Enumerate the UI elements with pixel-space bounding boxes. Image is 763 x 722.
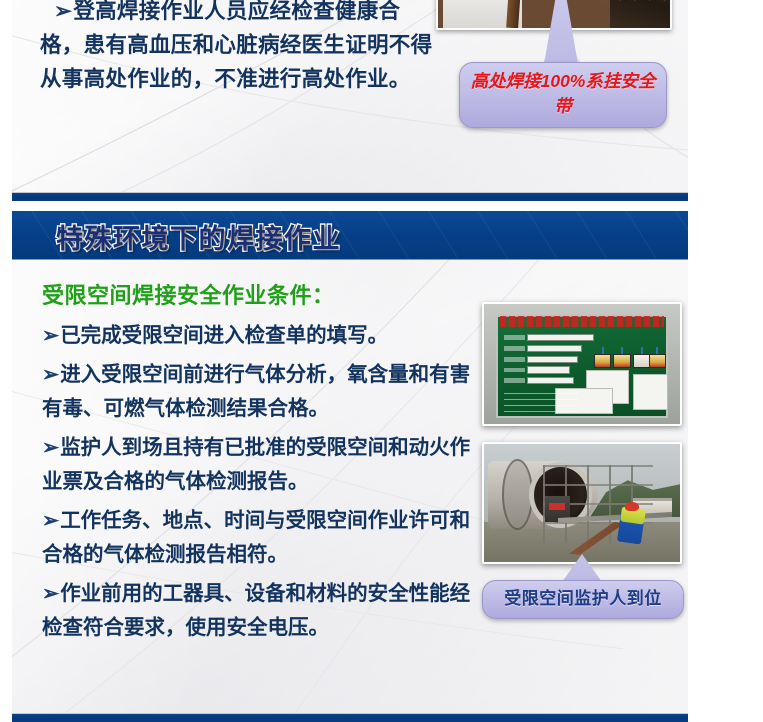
callout-bubble-text: 高处焊接100%系挂安全带 [459, 62, 667, 128]
confined-space-permit-board-photo [482, 302, 682, 426]
bullet-arrow-icon: ➢ [54, 0, 72, 23]
slide2-footer-bar [12, 713, 688, 722]
bullet-arrow-icon: ➢ [42, 363, 59, 386]
bullet-item: ➢已完成受限空间进入检查单的填写。 [42, 319, 482, 354]
bullet-item-text: 作业前用的工器具、设备和材料的安全性能经检查符合要求，使用安全电压。 [42, 582, 470, 640]
bullet-item-text: 进入受限空间前进行气体分析，氧含量和有害有毒、可燃气体检测结果合格。 [42, 363, 470, 421]
bullet-arrow-icon: ➢ [42, 436, 59, 459]
slide-deck-page: ➢登高焊接作业人员应经检查健康合格，患有高血压和心脏病经医生证明不得从事高处作业… [0, 0, 763, 722]
bullet-item: ➢监护人到场且持有已批准的受限空间和动火作业票及合格的气体检测报告。 [42, 431, 482, 500]
bullet-arrow-icon: ➢ [42, 509, 59, 532]
slide1-body-paragraph: 登高焊接作业人员应经检查健康合格，患有高血压和心脏病经医生证明不得从事高处作业的… [40, 0, 432, 91]
bullet-item-text: 工作任务、地点、时间与受限空间作业许可和合格的气体检测报告相符。 [42, 509, 470, 567]
confined-space-vessel-photo [482, 442, 682, 564]
bullet-arrow-icon: ➢ [42, 582, 59, 605]
bullet-item: ➢进入受限空间前进行气体分析，氧含量和有害有毒、可燃气体检测结果合格。 [42, 358, 482, 427]
bullet-arrow-icon: ➢ [42, 324, 59, 347]
slide-special-environment-welding: 特殊环境下的焊接作业 受限空间焊接安全作业条件： ➢已完成受限空间进入检查单的填… [12, 211, 688, 722]
page-title: 特殊环境下的焊接作业 [56, 217, 341, 256]
slide-high-altitude-welding: ➢登高焊接作业人员应经检查健康合格，患有高血压和心脏病经医生证明不得从事高处作业… [12, 0, 688, 201]
callout-confined-space-supervisor: 受限空间监护人到位 [482, 580, 684, 619]
slide1-body-text: ➢登高焊接作业人员应经检查健康合格，患有高血压和心脏病经医生证明不得从事高处作业… [40, 0, 440, 96]
bullet-list: ➢已完成受限空间进入检查单的填写。➢进入受限空间前进行气体分析，氧含量和有害有毒… [42, 319, 482, 650]
bullet-item-text: 已完成受限空间进入检查单的填写。 [60, 324, 388, 347]
slide2-title-banner: 特殊环境下的焊接作业 [12, 211, 688, 260]
callout-bubble-text: 受限空间监护人到位 [482, 580, 684, 619]
bullet-item: ➢作业前用的工器具、设备和材料的安全性能经检查符合要求，使用安全电压。 [42, 577, 482, 646]
callout-high-altitude-safety-belt: 高处焊接100%系挂安全带 [459, 62, 667, 128]
subtitle-confined-space-conditions: 受限空间焊接安全作业条件： [42, 278, 335, 310]
bullet-item: ➢工作任务、地点、时间与受限空间作业许可和合格的气体检测报告相符。 [42, 504, 482, 573]
bullet-item-text: 监护人到场且持有已批准的受限空间和动火作业票及合格的气体检测报告。 [42, 436, 470, 494]
slide1-footer-bar [12, 192, 688, 201]
